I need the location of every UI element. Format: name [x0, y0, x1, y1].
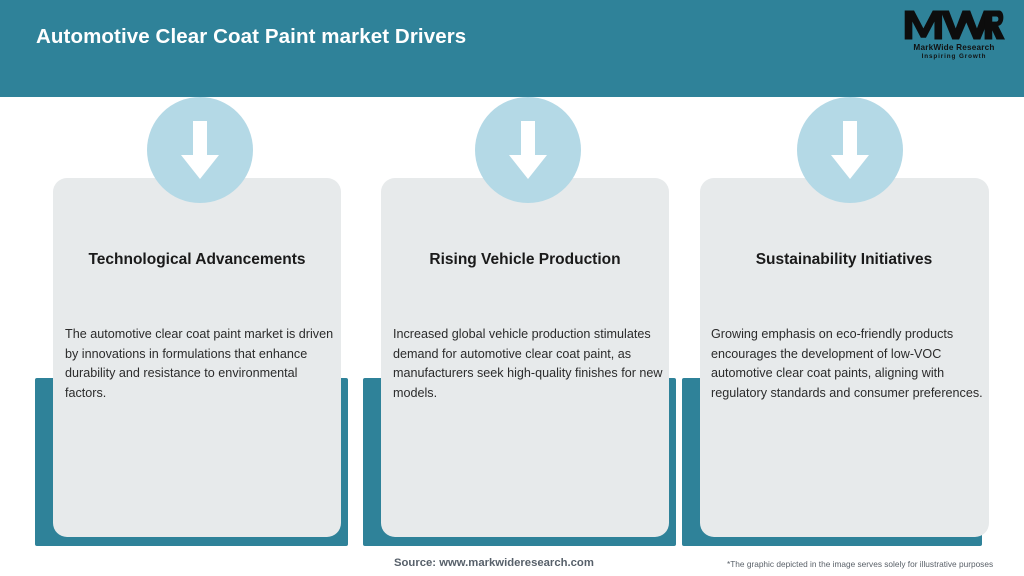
mwr-logo-icon [902, 8, 1006, 42]
down-arrow-icon [797, 97, 903, 203]
logo-tagline: Inspiring Growth [902, 53, 1006, 61]
driver-card[interactable]: Sustainability Initiatives Growing empha… [682, 97, 1004, 552]
down-arrow-icon [147, 97, 253, 203]
down-arrow-icon [475, 97, 581, 203]
card-title: Technological Advancements [53, 250, 341, 270]
driver-card[interactable]: Technological Advancements The automotiv… [35, 97, 357, 552]
footer-source: Source: www.markwideresearch.com [394, 557, 594, 569]
footer-disclaimer: *The graphic depicted in the image serve… [727, 559, 993, 569]
card-body-text: The automotive clear coat paint market i… [65, 325, 335, 403]
header-bar: Automotive Clear Coat Paint market Drive… [0, 0, 1024, 97]
page-title: Automotive Clear Coat Paint market Drive… [36, 25, 466, 49]
logo-company-name: MarkWide Research [902, 43, 1006, 53]
brand-logo: MarkWide Research Inspiring Growth [902, 8, 1006, 66]
card-title: Rising Vehicle Production [381, 250, 669, 270]
card-body-text: Growing emphasis on eco-friendly product… [711, 325, 987, 403]
card-title: Sustainability Initiatives [700, 250, 988, 270]
drivers-card-row: Technological Advancements The automotiv… [0, 97, 1024, 552]
card-body-text: Increased global vehicle production stim… [393, 325, 663, 403]
driver-card[interactable]: Rising Vehicle Production Increased glob… [363, 97, 685, 552]
